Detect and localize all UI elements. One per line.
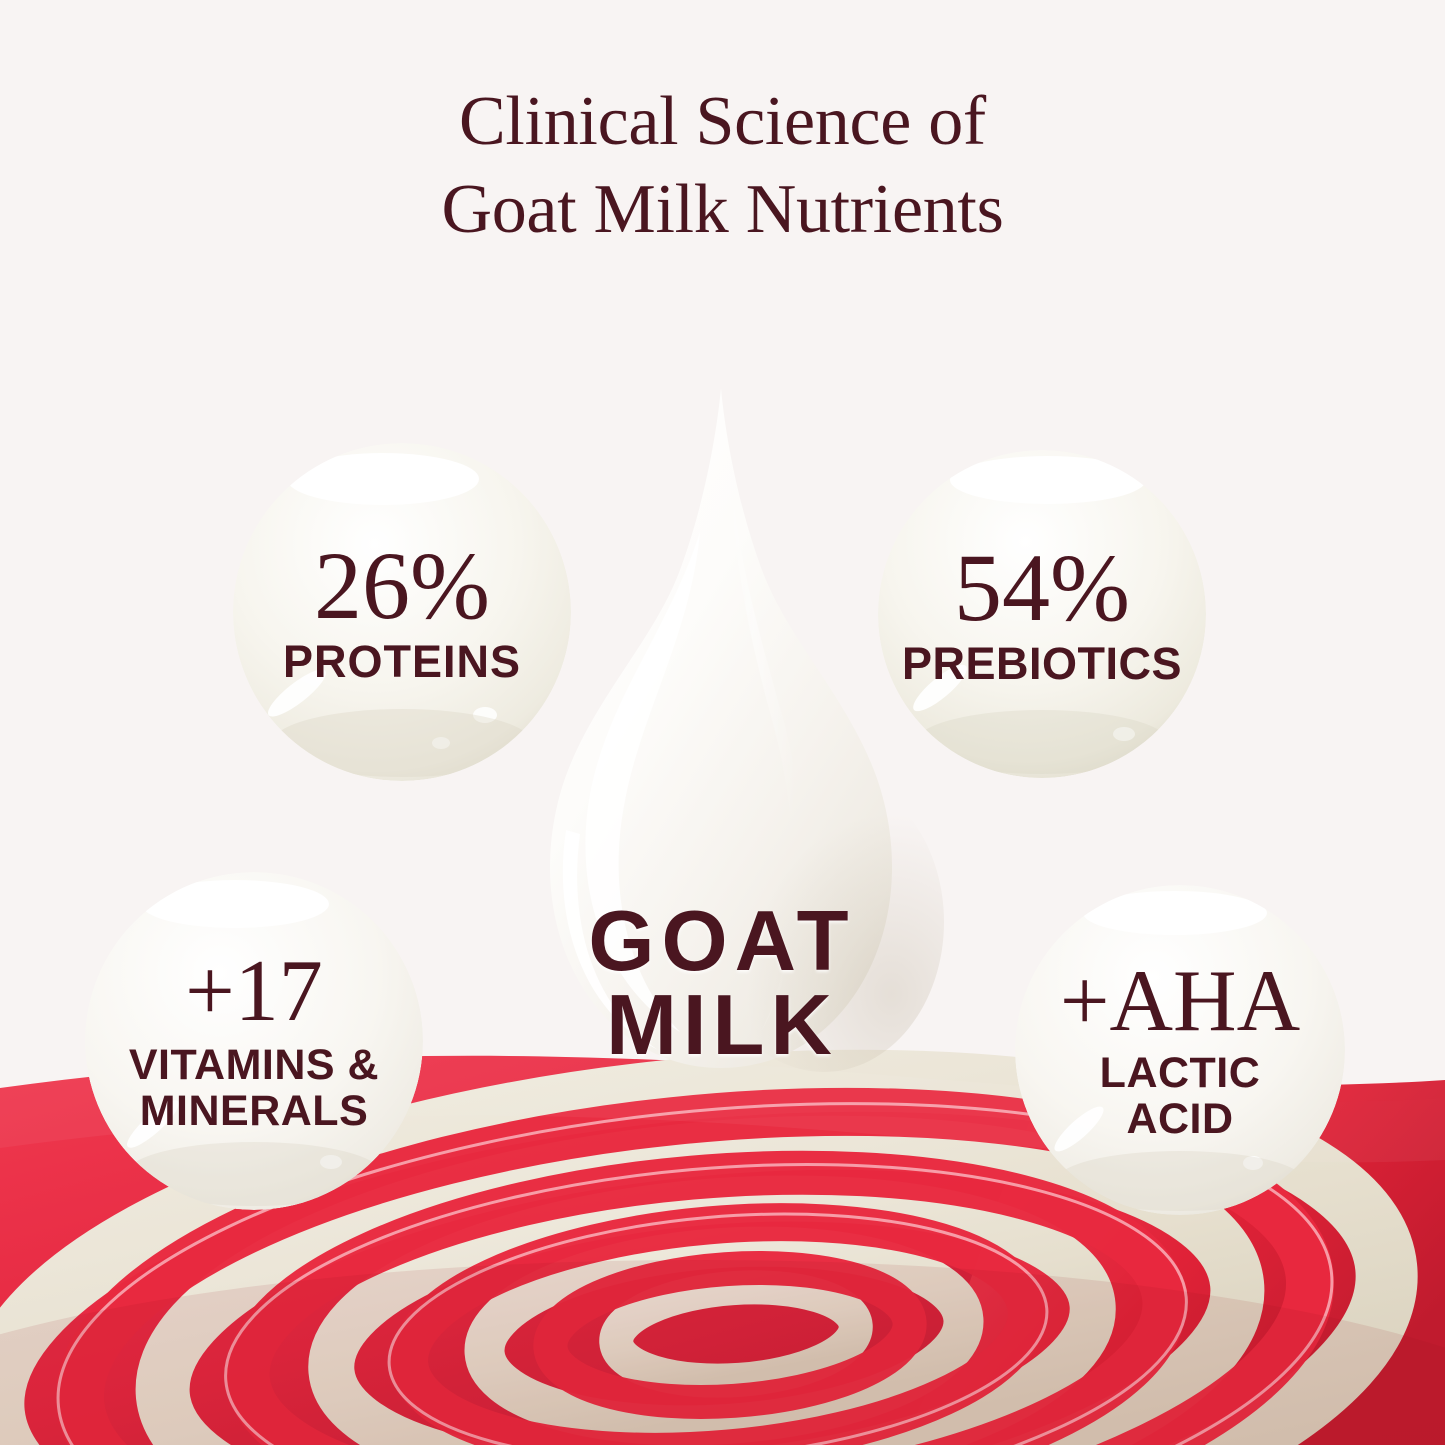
bubble-label-aha: LACTIC ACID bbox=[1100, 1050, 1261, 1143]
bubble-label-prebiotics: PREBIOTICS bbox=[902, 640, 1182, 689]
bubble-value-prebiotics: 54% bbox=[954, 540, 1130, 636]
infographic-canvas: Clinical Science of Goat Milk Nutrients bbox=[0, 0, 1445, 1445]
bubble-label-proteins: PROTEINS bbox=[283, 638, 521, 687]
bubble-label-vitamins: VITAMINS & MINERALS bbox=[129, 1042, 379, 1135]
bubble-value-vitamins: +17 bbox=[185, 948, 323, 1036]
page-title: Clinical Science of Goat Milk Nutrients bbox=[0, 78, 1445, 253]
stat-bubble-vitamins: +17 VITAMINS & MINERALS bbox=[85, 872, 423, 1210]
bubble-value-aha: +AHA bbox=[1060, 958, 1300, 1046]
stat-bubble-aha: +AHA LACTIC ACID bbox=[1015, 885, 1345, 1215]
stat-bubble-proteins: 26% PROTEINS bbox=[233, 443, 571, 781]
stat-bubble-prebiotics: 54% PREBIOTICS bbox=[878, 450, 1206, 778]
bubble-value-proteins: 26% bbox=[314, 538, 490, 634]
